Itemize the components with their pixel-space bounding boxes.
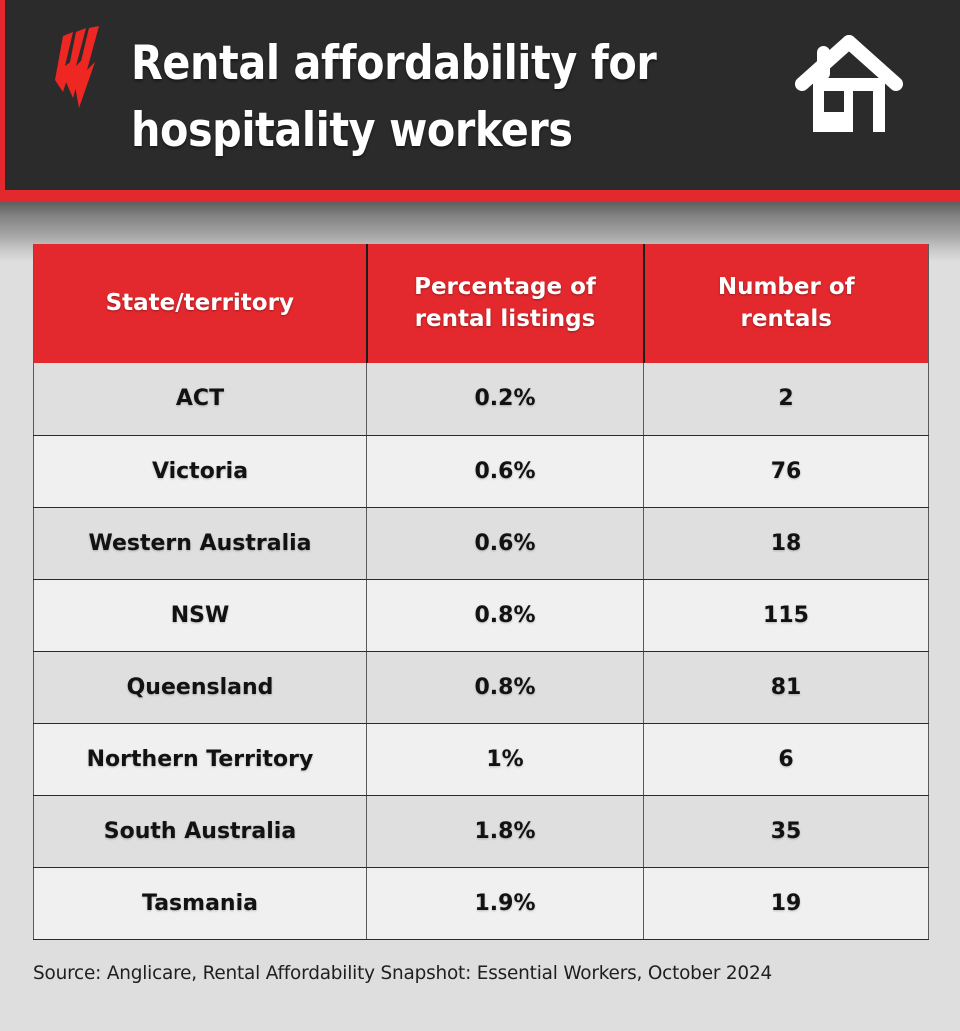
cell-state: Queensland bbox=[34, 651, 367, 723]
header-banner: Rental affordability for hospitality wor… bbox=[0, 0, 960, 190]
rental-affordability-table: State/territory Percentage of rental lis… bbox=[33, 244, 929, 940]
cell-state: ACT bbox=[34, 363, 367, 435]
cell-percentage: 0.8% bbox=[367, 579, 644, 651]
table-row: Western Australia 0.6% 18 bbox=[34, 507, 929, 579]
infographic-page: Rental affordability for hospitality wor… bbox=[0, 0, 960, 1031]
table-row: NSW 0.8% 115 bbox=[34, 579, 929, 651]
page-title-line-2: hospitality workers bbox=[131, 97, 712, 164]
cell-percentage: 0.8% bbox=[367, 651, 644, 723]
cell-rentals: 6 bbox=[644, 723, 929, 795]
table-row: Northern Territory 1% 6 bbox=[34, 723, 929, 795]
cell-percentage: 1.8% bbox=[367, 795, 644, 867]
cell-rentals: 115 bbox=[644, 579, 929, 651]
cell-state: Tasmania bbox=[34, 867, 367, 939]
cell-state: Western Australia bbox=[34, 507, 367, 579]
table-row: ACT 0.2% 2 bbox=[34, 363, 929, 435]
table-row: Victoria 0.6% 76 bbox=[34, 435, 929, 507]
cell-state: South Australia bbox=[34, 795, 367, 867]
rental-affordability-table-container: State/territory Percentage of rental lis… bbox=[33, 244, 928, 940]
cell-percentage: 0.6% bbox=[367, 507, 644, 579]
cell-rentals: 35 bbox=[644, 795, 929, 867]
header-accent-rule bbox=[0, 190, 960, 202]
table-header: State/territory Percentage of rental lis… bbox=[34, 244, 929, 363]
column-header-rentals-line-2: rentals bbox=[741, 306, 832, 332]
cell-state: NSW bbox=[34, 579, 367, 651]
cell-percentage: 0.2% bbox=[367, 363, 644, 435]
cell-percentage: 0.6% bbox=[367, 435, 644, 507]
cell-percentage: 1% bbox=[367, 723, 644, 795]
cell-rentals: 19 bbox=[644, 867, 929, 939]
column-header-rentals: Number of rentals bbox=[644, 244, 929, 363]
sbs-zigzag-logo-icon bbox=[43, 22, 105, 112]
table-row: Queensland 0.8% 81 bbox=[34, 651, 929, 723]
column-header-state-line-1: State/territory bbox=[106, 290, 294, 316]
cell-percentage: 1.9% bbox=[367, 867, 644, 939]
cell-rentals: 18 bbox=[644, 507, 929, 579]
cell-rentals: 2 bbox=[644, 363, 929, 435]
cell-rentals: 76 bbox=[644, 435, 929, 507]
cell-rentals: 81 bbox=[644, 651, 929, 723]
column-header-rentals-line-1: Number of bbox=[718, 274, 855, 300]
source-note: Source: Anglicare, Rental Affordability … bbox=[33, 962, 906, 984]
table-row: Tasmania 1.9% 19 bbox=[34, 867, 929, 939]
column-header-percentage-line-2: rental listings bbox=[415, 306, 596, 332]
table-row: South Australia 1.8% 35 bbox=[34, 795, 929, 867]
cell-state: Victoria bbox=[34, 435, 367, 507]
cell-state: Northern Territory bbox=[34, 723, 367, 795]
table-body: ACT 0.2% 2 Victoria 0.6% 76 Western Aust… bbox=[34, 363, 929, 939]
house-icon bbox=[790, 28, 908, 140]
page-title-line-1: Rental affordability for bbox=[131, 30, 712, 97]
column-header-state: State/territory bbox=[34, 244, 367, 363]
header-content: Rental affordability for hospitality wor… bbox=[5, 0, 960, 190]
column-header-percentage: Percentage of rental listings bbox=[367, 244, 644, 363]
column-header-percentage-line-1: Percentage of bbox=[414, 274, 596, 300]
page-title: Rental affordability for hospitality wor… bbox=[131, 30, 712, 164]
table-header-row: State/territory Percentage of rental lis… bbox=[34, 244, 929, 363]
